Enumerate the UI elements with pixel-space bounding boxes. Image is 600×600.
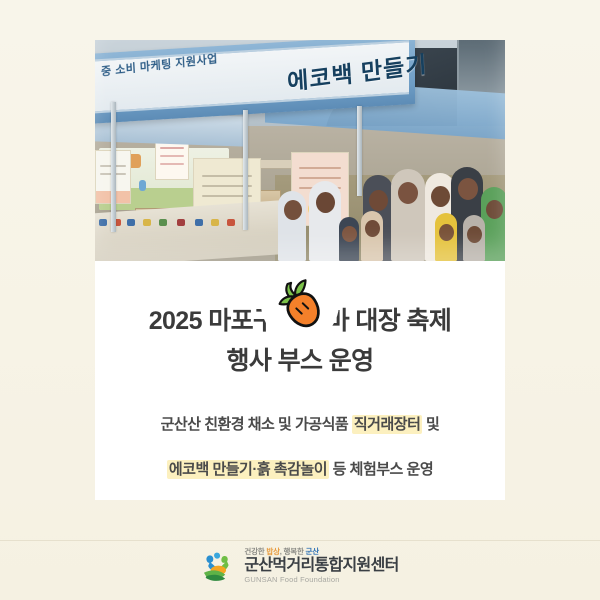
gunsan-foundation-logo-icon xyxy=(201,549,235,583)
photo-cloth-text-line xyxy=(160,163,184,165)
photo-cloth-text-line xyxy=(299,167,342,169)
photo-supplies xyxy=(99,219,249,227)
photo-person-head xyxy=(369,190,388,211)
highlight-ecobag-activity: 에코백 만들기·흙 촉감놀이 xyxy=(167,460,329,479)
content-card: 중 소비 마케팅 지원사업 에코백 만들기 xyxy=(95,40,505,500)
carrot-icon xyxy=(271,275,329,333)
photo-supply-item xyxy=(211,219,219,226)
photo-supply-item xyxy=(143,219,151,226)
tagline-part-1: 건강한 xyxy=(244,547,266,556)
footer-logo: 건강한 밥상, 행복한 군산 군산먹거리통합지원센터 GUNSAN Food F… xyxy=(201,548,398,583)
photo-tent-pole xyxy=(243,110,248,230)
photo-person-head xyxy=(458,178,478,200)
photo-person-head xyxy=(486,200,503,219)
page-canvas: 중 소비 마케팅 지원사업 에코백 만들기 xyxy=(0,0,600,600)
description-text: 군산산 친환경 채소 및 가공식품 xyxy=(161,416,352,433)
event-photo: 중 소비 마케팅 지원사업 에코백 만들기 xyxy=(95,40,505,261)
footer-org-name-en: GUNSAN Food Foundation xyxy=(244,576,398,584)
photo-supply-item xyxy=(195,219,203,226)
photo-person-head xyxy=(398,182,418,204)
photo-supply-item xyxy=(159,219,167,226)
photo-tent-pole xyxy=(111,102,116,232)
description-line1: 군산산 친환경 채소 및 가공식품 직거래장터 및 xyxy=(121,410,479,440)
description-text: 등 체험부스 운영 xyxy=(329,461,433,478)
photo-person-head xyxy=(284,200,302,220)
tagline-part-4: 군산 xyxy=(306,547,319,556)
photo-child-head xyxy=(342,226,357,242)
photo-child-head xyxy=(467,226,482,243)
photo-supply-item xyxy=(227,219,235,226)
photo-person-head xyxy=(316,192,335,213)
tagline-part-2: 밥상 xyxy=(266,547,279,556)
page-title-line2: 행사 부스 운영 xyxy=(121,343,479,381)
carrot-icon-badge xyxy=(261,265,339,343)
photo-supply-item xyxy=(99,219,107,226)
photo-tent-pole xyxy=(357,106,362,196)
photo-child-head xyxy=(365,220,380,237)
footer-divider xyxy=(0,540,600,541)
photo-cloth-text-line xyxy=(299,177,342,179)
highlight-direct-market: 직거래장터 xyxy=(352,415,423,434)
footer-tagline: 건강한 밥상, 행복한 군산 xyxy=(244,548,398,556)
footer-org-name: 군산먹거리통합지원센터 xyxy=(244,558,398,574)
tagline-part-3: , 행복한 xyxy=(280,547,306,556)
photo-child-head xyxy=(439,224,454,241)
photo-cloth-text-line xyxy=(160,147,184,149)
photo-supply-item xyxy=(177,219,185,226)
photo-person-head xyxy=(431,186,450,207)
photo-supply-item xyxy=(127,219,135,226)
photo-mural-kid2 xyxy=(139,180,146,191)
footer-logo-text: 건강한 밥상, 행복한 군산 군산먹거리통합지원센터 GUNSAN Food F… xyxy=(244,548,398,583)
page-footer: 건강한 밥상, 행복한 군산 군산먹거리통합지원센터 GUNSAN Food F… xyxy=(0,540,600,600)
photo-cloth-text-line xyxy=(160,155,184,157)
description-line2: 에코백 만들기·흙 촉감놀이 등 체험부스 운영 xyxy=(121,455,479,485)
description-text: 및 xyxy=(422,416,439,433)
